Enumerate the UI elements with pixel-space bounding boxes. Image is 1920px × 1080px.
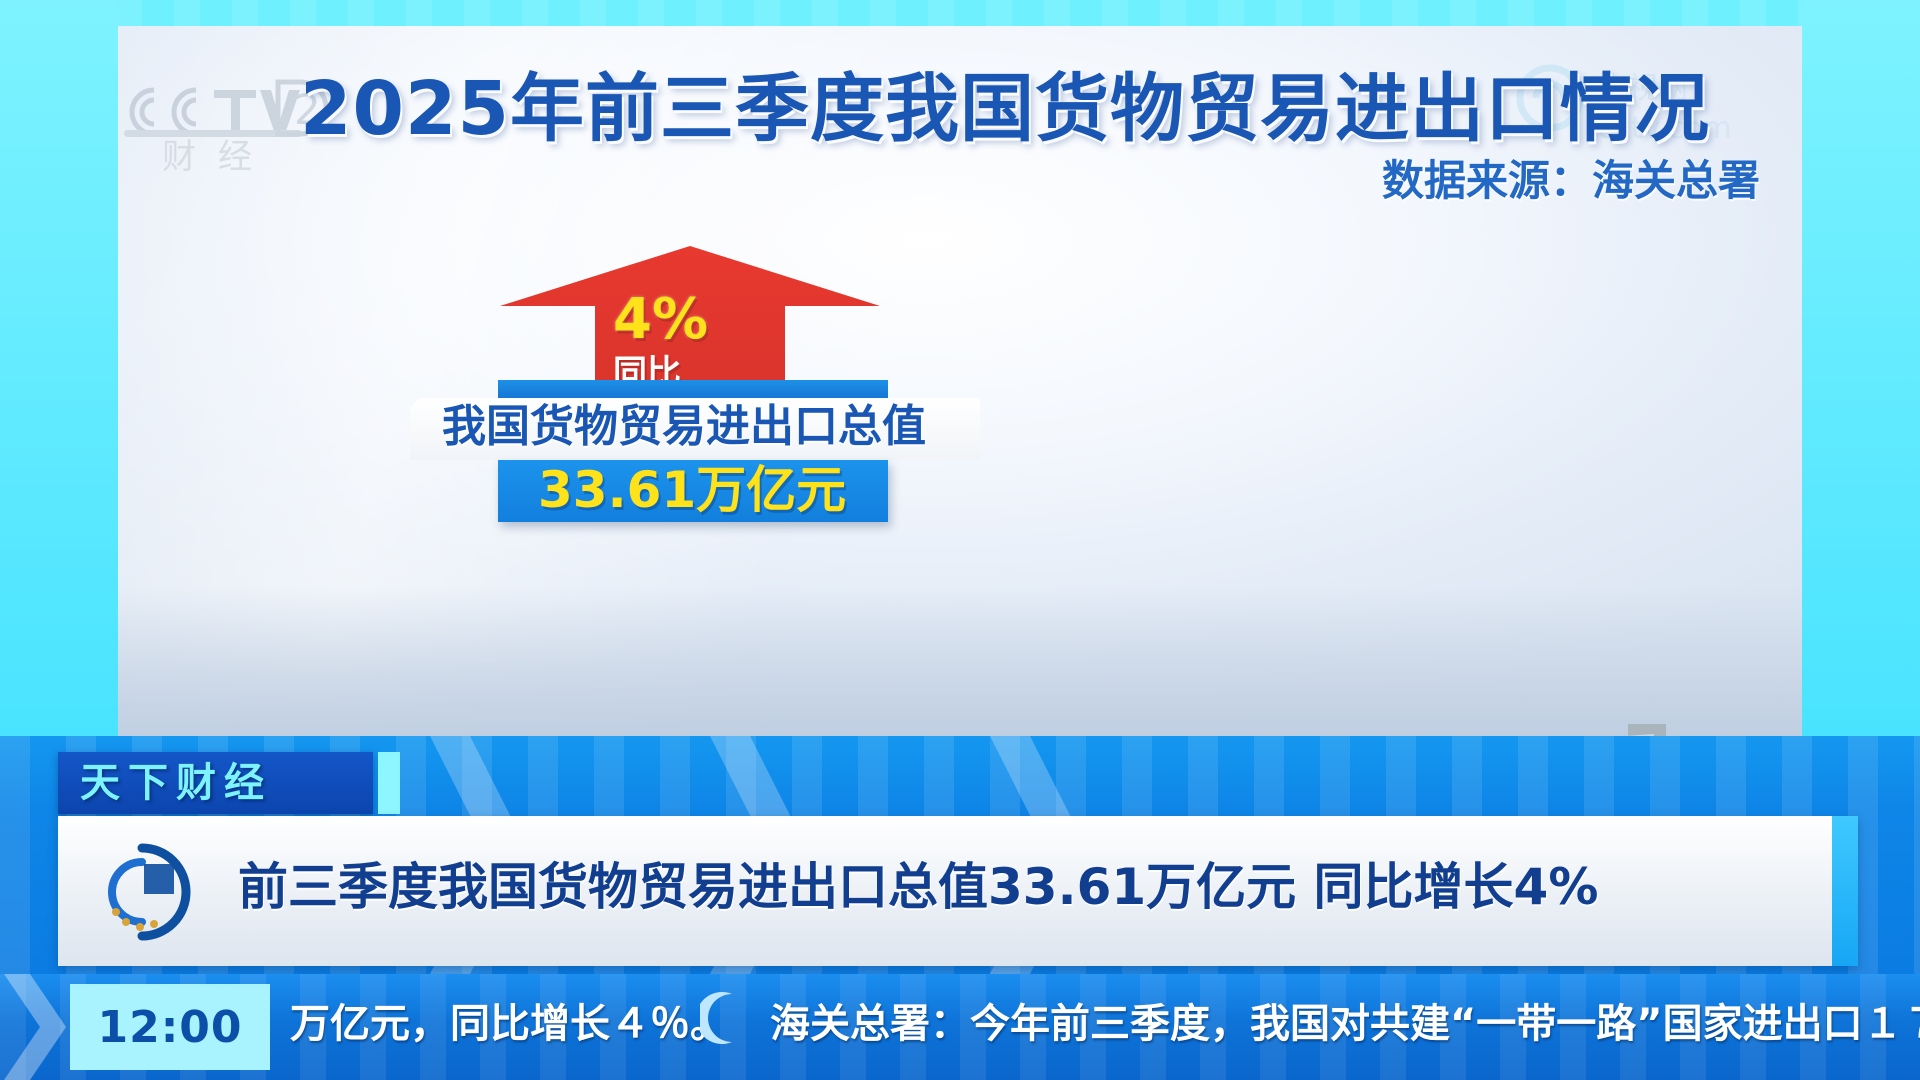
headline-strip-accent: [1832, 816, 1858, 966]
headline-strip: 前三季度我国货物贸易进出口总值33.61万亿元 同比增长4%: [58, 816, 1858, 966]
program-tab-marker: [378, 752, 400, 814]
cctv-finance-circle-icon: [88, 838, 196, 946]
bar-top-accent: [498, 380, 888, 398]
metric-value-text: 33.61万亿元: [538, 464, 846, 517]
data-source-label: 数据来源：海关总署: [1382, 160, 1760, 202]
statistic-block: 4% 同比 我国货物贸易进出口总值 33.61万亿元: [490, 246, 990, 556]
program-name-text: 天下财经: [80, 757, 272, 809]
crescent-icon: [700, 990, 746, 1046]
ticker-clock: 12:00: [70, 984, 270, 1070]
frame-left-edge: [0, 0, 118, 740]
growth-percent: 4%: [613, 292, 873, 348]
program-name-tab: 天下财经: [58, 752, 373, 814]
metric-label-bar: 我国货物贸易进出口总值: [410, 398, 980, 460]
ticker-item-1: 万亿元，同比增长４％。: [290, 996, 730, 1052]
metric-value-bar: 33.61万亿元: [498, 460, 888, 522]
broadcast-screenshot: 2 财经 央视网 cctv.com 2025年前三季度我国货物贸易进出口情况 数…: [0, 0, 1920, 1080]
svg-text:财经: 财经: [162, 137, 274, 173]
chevron-decor-icon: [0, 974, 70, 1080]
ticker-item-2: 海关总署：今年前三季度，我国对共建“一带一路”国家进出口１７.: [770, 996, 1920, 1052]
clock-text: 12:00: [97, 1002, 242, 1053]
up-arrow-icon: 4% 同比: [500, 246, 880, 396]
page-title: 2025年前三季度我国货物贸易进出口情况: [300, 72, 1710, 146]
headline-text: 前三季度我国货物贸易进出口总值33.61万亿元 同比增长4%: [238, 852, 1598, 922]
metric-label-text: 我国货物贸易进出口总值: [442, 405, 926, 449]
